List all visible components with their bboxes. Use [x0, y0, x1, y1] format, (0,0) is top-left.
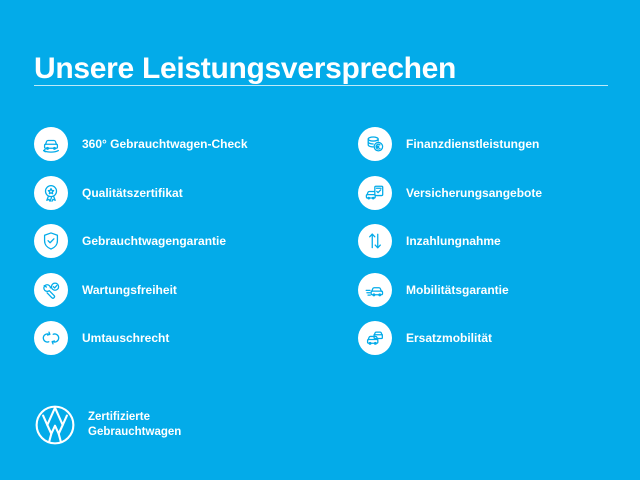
feature-label: Versicherungsangebote [406, 185, 542, 201]
feature-label: 360° Gebrauchtwagen-Check [82, 136, 248, 152]
feature-label: Gebrauchtwagengarantie [82, 233, 226, 249]
two-cars-icon [358, 321, 392, 355]
car-360-check-icon [34, 127, 68, 161]
header-divider [34, 85, 608, 86]
exchange-arrows-icon [34, 321, 68, 355]
award-rosette-icon [34, 176, 68, 210]
feature-item[interactable]: Finanzdienstleistungen [358, 127, 640, 176]
feature-item[interactable]: Gebrauchtwagengarantie [34, 224, 324, 273]
feature-item[interactable]: Mobilitätsgarantie [358, 273, 640, 322]
feature-item[interactable]: Ersatzmobilität [358, 321, 640, 370]
brand-lockup: Zertifizierte Gebrauchtwagen [34, 404, 181, 446]
feature-item[interactable]: Inzahlungnahme [358, 224, 640, 273]
features-left-column: 360° Gebrauchtwagen-Check Qualitätszerti… [34, 127, 324, 370]
car-document-check-icon [358, 176, 392, 210]
feature-label: Inzahlungnahme [406, 233, 501, 249]
feature-label: Mobilitätsgarantie [406, 282, 509, 298]
feature-item[interactable]: Qualitätszertifikat [34, 176, 324, 225]
brand-text-line1: Zertifizierte [88, 410, 181, 425]
brand-text: Zertifizierte Gebrauchtwagen [88, 410, 181, 440]
page-title: Unsere Leistungsversprechen [34, 50, 456, 88]
service-promises-poster: Unsere Leistungsversprechen 360° Gebrauc… [0, 0, 640, 480]
moving-car-icon [358, 273, 392, 307]
coins-euro-icon [358, 127, 392, 161]
feature-label: Wartungsfreiheit [82, 282, 177, 298]
feature-item[interactable]: 360° Gebrauchtwagen-Check [34, 127, 324, 176]
feature-item[interactable]: Wartungsfreiheit [34, 273, 324, 322]
shield-check-icon [34, 224, 68, 258]
volkswagen-logo [34, 404, 76, 446]
feature-label: Ersatzmobilität [406, 330, 492, 346]
features-right-column: Finanzdienstleistungen Versicherungsange… [358, 127, 640, 370]
wrench-check-icon [34, 273, 68, 307]
feature-label: Umtauschrecht [82, 330, 169, 346]
feature-label: Qualitätszertifikat [82, 185, 183, 201]
feature-item[interactable]: Versicherungsangebote [358, 176, 640, 225]
brand-text-line2: Gebrauchtwagen [88, 425, 181, 440]
feature-item[interactable]: Umtauschrecht [34, 321, 324, 370]
up-down-arrows-icon [358, 224, 392, 258]
feature-label: Finanzdienstleistungen [406, 136, 539, 152]
